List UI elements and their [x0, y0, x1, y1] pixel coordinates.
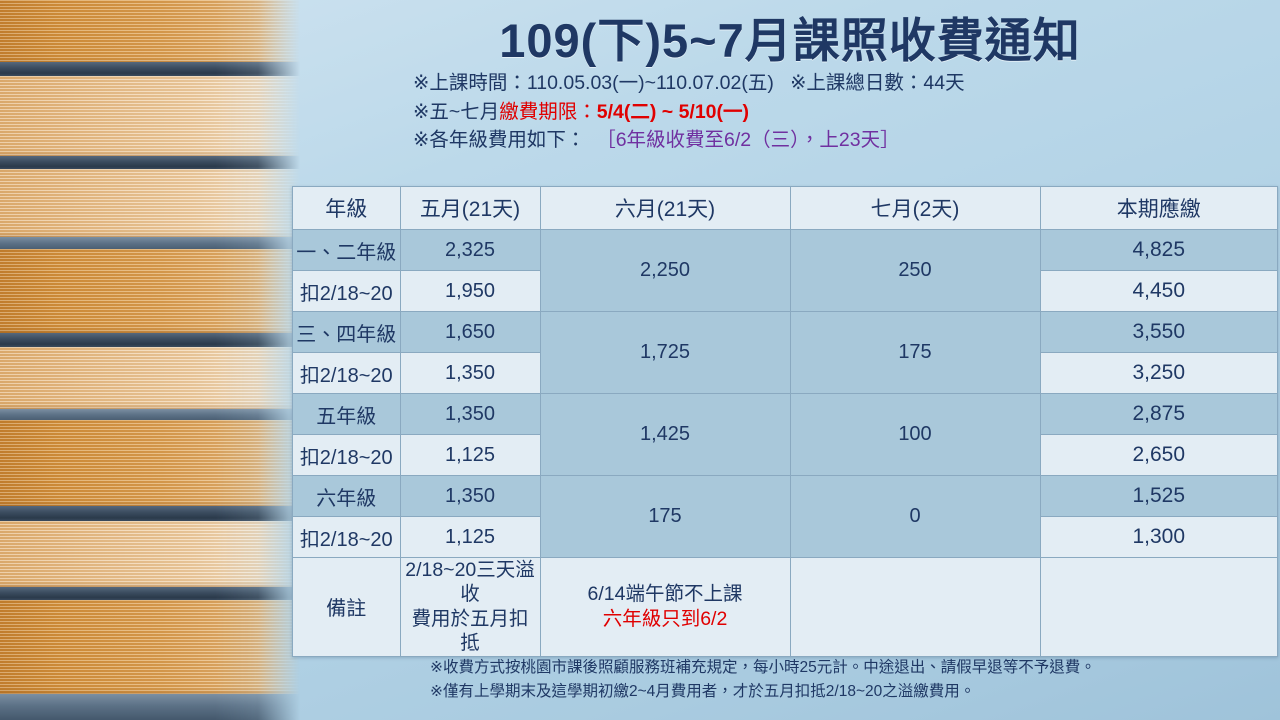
remarks-row: 備註 2/18~20三天溢收 費用於五月扣抵 6/14端午節不上課 六年級只到6… — [293, 558, 1278, 657]
may-amount-deduct: 1,125 — [400, 517, 540, 558]
header-block: 109(下)5~7月課照收費通知 ※上課時間：110.05.03(一)~110.… — [300, 0, 1280, 154]
total-due-amount: 2,875 — [1040, 394, 1278, 435]
july-amount: 100 — [790, 394, 1040, 476]
may-amount: 1,650 — [400, 312, 540, 353]
remarks-label: 備註 — [293, 558, 401, 657]
june-amount: 175 — [540, 476, 790, 558]
remarks-may-line1: 2/18~20三天溢收 — [405, 559, 535, 605]
total-due-amount: 4,825 — [1040, 230, 1278, 271]
book-pages — [0, 600, 300, 696]
book-pages — [0, 76, 300, 158]
schedule-line: ※上課時間：110.05.03(一)~110.07.02(五) ※上課總日數：4… — [300, 69, 1280, 97]
col-header-june: 六月(21天) — [540, 187, 790, 230]
deduct-label: 扣2/18~20 — [293, 353, 401, 394]
total-due-amount: 3,550 — [1040, 312, 1278, 353]
col-header-may: 五月(21天) — [400, 187, 540, 230]
book-pages — [0, 0, 300, 66]
remarks-july — [790, 558, 1040, 657]
deduct-label: 扣2/18~20 — [293, 271, 401, 312]
total-due-amount-deduct: 2,650 — [1040, 435, 1278, 476]
class-period-text: ※上課時間：110.05.03(一)~110.07.02(五) — [413, 72, 774, 94]
may-amount-deduct: 1,950 — [400, 271, 540, 312]
remarks-may-line2: 費用於五月扣抵 — [411, 608, 528, 654]
footnote-1: ※收費方式按桃園市課後照顧服務班補充規定，每小時25元計。中途退出、請假早退等不… — [430, 656, 1280, 680]
table-header-row: 年級 五月(21天) 六月(21天) 七月(2天) 本期應繳 — [293, 187, 1278, 230]
fee-table: 年級 五月(21天) 六月(21天) 七月(2天) 本期應繳 一、二年級 2,3… — [292, 186, 1278, 657]
table-row: 一、二年級 2,325 2,250 250 4,825 — [293, 230, 1278, 271]
grade-label: 三、四年級 — [293, 312, 401, 353]
remarks-june-line1: 6/14端午節不上課 — [588, 583, 743, 605]
june-amount: 2,250 — [540, 230, 790, 312]
book-spine — [0, 694, 300, 720]
total-days-text: ※上課總日數：44天 — [790, 72, 965, 94]
book-pages — [0, 169, 300, 239]
deduct-label: 扣2/18~20 — [293, 517, 401, 558]
grade-label: 五年級 — [293, 394, 401, 435]
may-amount: 1,350 — [400, 476, 540, 517]
table-row: 三、四年級 1,650 1,725 175 3,550 — [293, 312, 1278, 353]
grade-label: 一、二年級 — [293, 230, 401, 271]
payment-deadline-line: ※五~七月繳費期限：5/4(二) ~ 5/10(一) — [300, 98, 1280, 126]
deduct-label: 扣2/18~20 — [293, 435, 401, 476]
deadline-value: 5/4(二) ~ 5/10(一) — [597, 101, 749, 123]
table-row: 五年級 1,350 1,425 100 2,875 — [293, 394, 1278, 435]
total-due-amount-deduct: 1,300 — [1040, 517, 1278, 558]
footnote-2: ※僅有上學期末及這學期初繳2~4月費用者，才於五月扣抵2/18~20之溢繳費用。 — [430, 680, 1280, 704]
book-stack-image — [0, 0, 300, 720]
total-due-amount: 1,525 — [1040, 476, 1278, 517]
deadline-label: 繳費期限： — [499, 101, 597, 123]
col-header-july: 七月(2天) — [790, 187, 1040, 230]
july-amount: 250 — [790, 230, 1040, 312]
remarks-due — [1040, 558, 1278, 657]
may-amount-deduct: 1,125 — [400, 435, 540, 476]
deadline-prefix: ※五~七月 — [413, 101, 499, 123]
july-amount: 0 — [790, 476, 1040, 558]
total-due-amount-deduct: 4,450 — [1040, 271, 1278, 312]
remarks-june-line2: 六年級只到6/2 — [603, 608, 728, 630]
may-amount-deduct: 1,350 — [400, 353, 540, 394]
book-pages — [0, 521, 300, 589]
page-title: 109(下)5~7月課照收費通知 — [300, 16, 1280, 65]
fees-intro-text: ※各年級費用如下： — [413, 129, 585, 151]
june-amount: 1,725 — [540, 312, 790, 394]
fees-intro-line: ※各年級費用如下： ［6年級收費至6/2（三），上23天］ — [300, 126, 1280, 154]
book-pages — [0, 347, 300, 411]
book-pages — [0, 420, 300, 508]
total-due-amount-deduct: 3,250 — [1040, 353, 1278, 394]
col-header-due: 本期應繳 — [1040, 187, 1278, 230]
footnotes-block: ※收費方式按桃園市課後照顧服務班補充規定，每小時25元計。中途退出、請假早退等不… — [300, 656, 1280, 704]
grade-label: 六年級 — [293, 476, 401, 517]
may-amount: 1,350 — [400, 394, 540, 435]
may-amount: 2,325 — [400, 230, 540, 271]
july-amount: 175 — [790, 312, 1040, 394]
remarks-june: 6/14端午節不上課 六年級只到6/2 — [540, 558, 790, 657]
june-amount: 1,425 — [540, 394, 790, 476]
grade6-note: ［6年級收費至6/2（三），上23天］ — [596, 129, 899, 151]
remarks-may: 2/18~20三天溢收 費用於五月扣抵 — [400, 558, 540, 657]
table-row: 六年級 1,350 175 0 1,525 — [293, 476, 1278, 517]
book-pages — [0, 249, 300, 335]
col-header-grade: 年級 — [293, 187, 401, 230]
